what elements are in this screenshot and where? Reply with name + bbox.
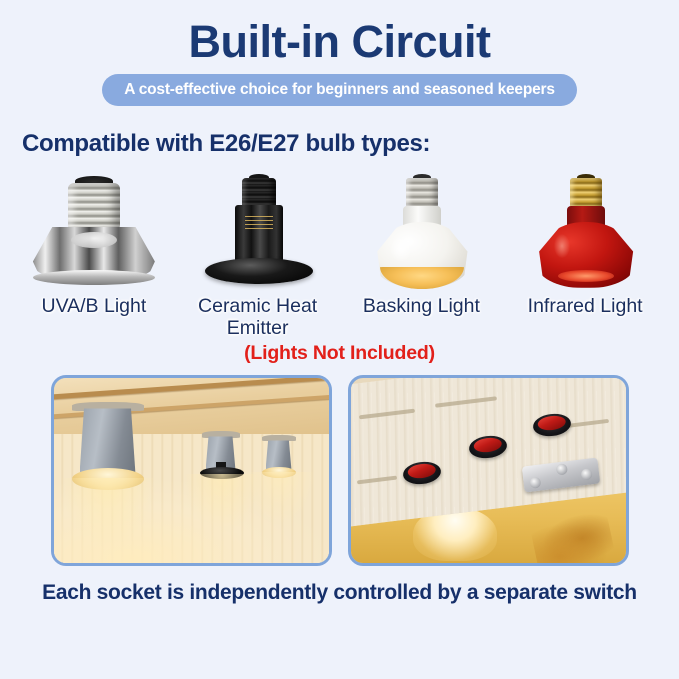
infrared-bulb-icon [510, 170, 660, 292]
uva-b-bulb-icon [19, 170, 169, 292]
bulb-label: Basking Light [363, 296, 480, 318]
subtitle-pill-wrapper: A cost-effective choice for beginners an… [0, 74, 679, 106]
basking-bulb-icon [346, 170, 496, 292]
bulb-item-uva-b: UVA/B Light [12, 170, 176, 340]
subtitle-pill: A cost-effective choice for beginners an… [102, 74, 577, 106]
bulb-label: Ceramic Heat Emitter [176, 296, 340, 340]
bulb-type-row: UVA/B Light Ceramic Heat Emitter Basking… [0, 170, 679, 340]
bulb-label: UVA/B Light [41, 296, 146, 318]
ceramic-heat-emitter-icon [183, 170, 333, 292]
bulb-item-infrared: Infrared Light [503, 170, 667, 340]
photo-row [0, 375, 679, 566]
enclosure-lamps-photo [51, 375, 332, 566]
bulb-item-basking: Basking Light [340, 170, 504, 340]
bottom-caption: Each socket is independently controlled … [0, 581, 679, 605]
bulb-label: Infrared Light [528, 296, 643, 318]
section-heading: Compatible with E26/E27 bulb types: [22, 130, 679, 158]
bulb-item-ceramic-heat-emitter: Ceramic Heat Emitter [176, 170, 340, 340]
lights-not-included-note: (Lights Not Included) [0, 342, 679, 365]
page-title: Built-in Circuit [0, 0, 679, 68]
switch-panel-photo [348, 375, 629, 566]
